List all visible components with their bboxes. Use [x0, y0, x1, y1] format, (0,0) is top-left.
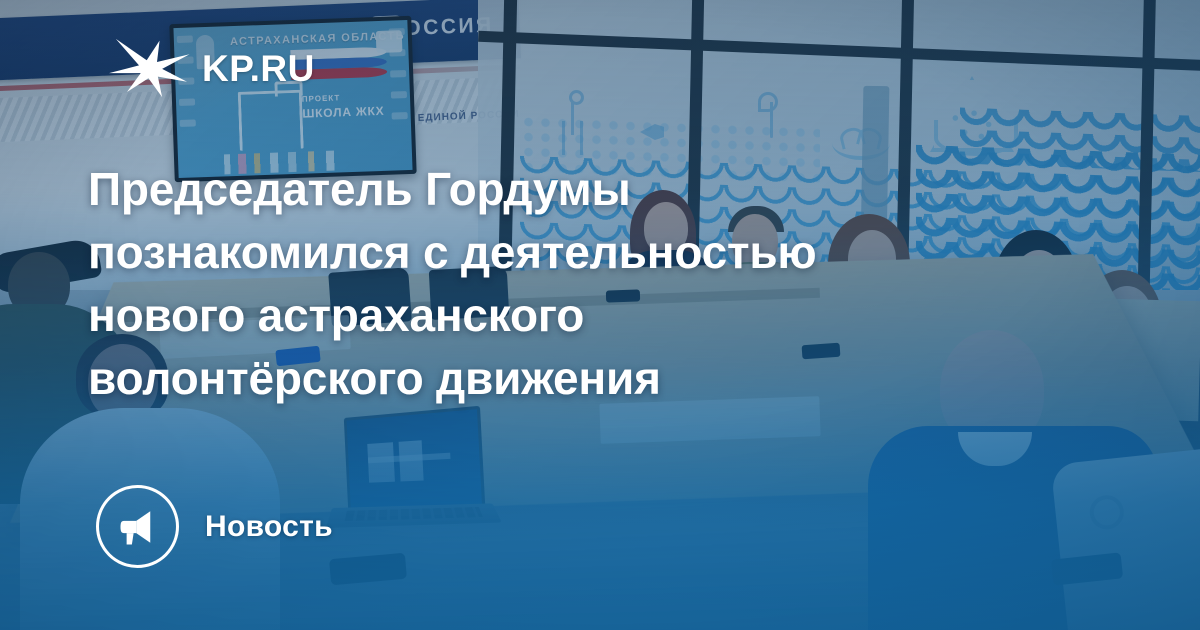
megaphone-badge-circle: [96, 485, 179, 568]
headline-line-3: нового астраханского: [88, 284, 1018, 347]
kp-logo[interactable]: KP.RU: [108, 38, 315, 98]
headline: Председатель Гордумы познакомился с деят…: [88, 158, 1018, 410]
news-share-card: ЕДИНАЯ РОССИЯ ПРИ ОБЩЕСТВЕННОЙ ПОДДЕРЖКЕ…: [0, 0, 1200, 630]
headline-line-4: волонтёрского движения: [88, 347, 1018, 410]
headline-line-1: Председатель Гордумы: [88, 158, 1018, 221]
kp-star-icon: [108, 38, 194, 98]
megaphone-icon: [117, 506, 159, 548]
headline-line-2: познакомился с деятельностью: [88, 221, 1018, 284]
kp-logo-text: KP.RU: [202, 50, 315, 87]
category-badge-label: Новость: [205, 510, 333, 544]
category-badge[interactable]: Новость: [96, 485, 333, 568]
